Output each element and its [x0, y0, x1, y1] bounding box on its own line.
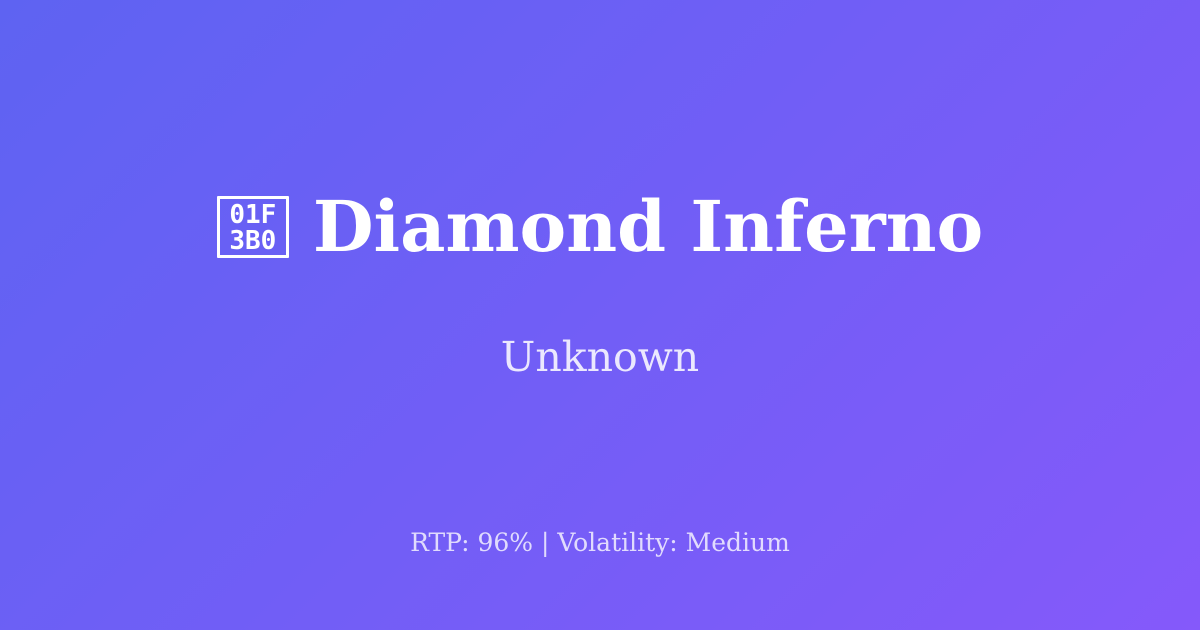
title-row: 01F 3B0 Diamond Inferno	[0, 187, 1200, 267]
game-preview-card: 01F 3B0 Diamond Inferno Unknown RTP: 96%…	[0, 0, 1200, 630]
game-meta-stats: RTP: 96% | Volatility: Medium	[0, 528, 1200, 558]
game-title: Diamond Inferno	[313, 187, 983, 267]
slot-machine-icon: 01F 3B0	[217, 196, 289, 258]
slot-machine-icon-hex-low: 3B0	[229, 228, 276, 254]
game-provider-subtitle: Unknown	[501, 333, 699, 381]
slot-machine-icon-hex-high: 01F	[229, 202, 276, 228]
